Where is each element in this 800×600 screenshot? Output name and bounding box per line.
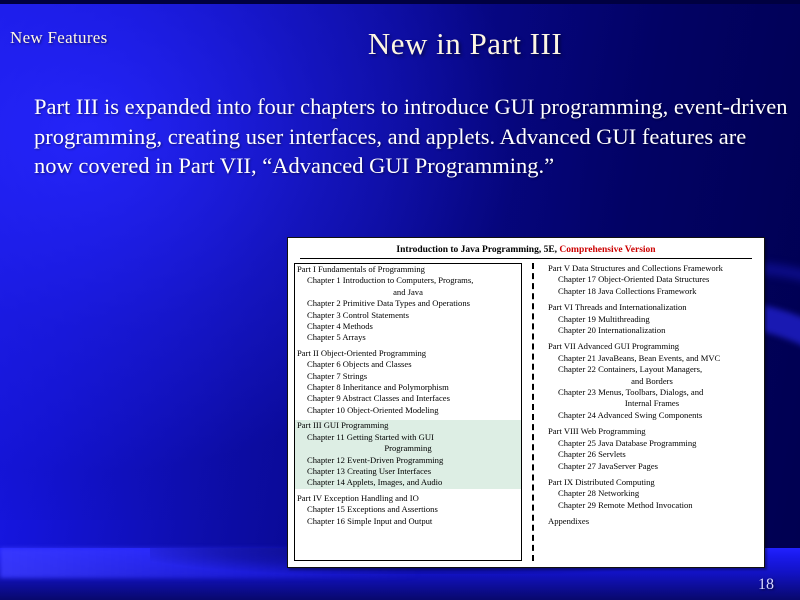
toc-part-title: Part VI Threads and Internationalization <box>546 302 758 313</box>
toc-chapter-entry: Chapter 2 Primitive Data Types and Opera… <box>295 298 521 309</box>
toc-part-group: Appendixes <box>546 516 758 527</box>
contents-columns: Part I Fundamentals of ProgrammingChapte… <box>294 263 758 561</box>
toc-part-title: Part V Data Structures and Collections F… <box>546 263 758 274</box>
toc-part-group: Part VIII Web ProgrammingChapter 25 Java… <box>546 426 758 472</box>
toc-part-title: Part III GUI Programming <box>295 420 521 431</box>
toc-chapter-entry: Internal Frames <box>546 398 758 409</box>
toc-part-title: Part IV Exception Handling and IO <box>295 493 521 504</box>
toc-part-title: Part IX Distributed Computing <box>546 477 758 488</box>
slide-page-number: 18 <box>758 576 774 594</box>
toc-part-group: Part III GUI ProgrammingChapter 11 Getti… <box>295 420 521 488</box>
toc-chapter-entry: Chapter 1 Introduction to Computers, Pro… <box>295 275 521 286</box>
toc-chapter-entry: Chapter 15 Exceptions and Assertions <box>295 504 521 515</box>
toc-chapter-entry: Chapter 17 Object-Oriented Data Structur… <box>546 274 758 285</box>
book-title: Introduction to Java Programming, 5E, Co… <box>300 243 752 259</box>
toc-chapter-entry: Chapter 26 Servlets <box>546 449 758 460</box>
toc-chapter-entry: Chapter 27 JavaServer Pages <box>546 461 758 472</box>
top-edge-strip <box>0 0 800 4</box>
toc-chapter-entry: Chapter 7 Strings <box>295 371 521 382</box>
toc-chapter-entry: Chapter 6 Objects and Classes <box>295 359 521 370</box>
toc-chapter-entry: Chapter 16 Simple Input and Output <box>295 516 521 527</box>
toc-part-title: Part VII Advanced GUI Programming <box>546 341 758 352</box>
toc-chapter-entry: Chapter 21 JavaBeans, Bean Events, and M… <box>546 353 758 364</box>
presentation-slide: New Features New in Part III Part III is… <box>0 0 800 600</box>
toc-part-title: Part I Fundamentals of Programming <box>295 264 521 275</box>
toc-part-group: Part IV Exception Handling and IOChapter… <box>295 493 521 527</box>
toc-part-title: Part VIII Web Programming <box>546 426 758 437</box>
dashed-divider-line <box>532 263 534 561</box>
slide-body-text: Part III is expanded into four chapters … <box>34 92 790 181</box>
toc-part-group: Part VI Threads and Internationalization… <box>546 302 758 336</box>
book-title-black: Introduction to Java Programming, 5E, <box>396 245 557 255</box>
toc-part-group: Part II Object-Oriented ProgrammingChapt… <box>295 348 521 416</box>
toc-part-group: Part I Fundamentals of ProgrammingChapte… <box>295 264 521 344</box>
toc-chapter-entry: Chapter 22 Containers, Layout Managers, <box>546 364 758 375</box>
toc-chapter-entry: Chapter 14 Applets, Images, and Audio <box>295 477 521 488</box>
book-title-red: Comprehensive Version <box>559 245 655 255</box>
toc-chapter-entry: and Java <box>295 287 521 298</box>
toc-chapter-entry: Chapter 28 Networking <box>546 488 758 499</box>
toc-part-title: Appendixes <box>546 516 758 527</box>
page-title-text: New in Part III <box>368 26 562 61</box>
column-divider <box>522 263 544 561</box>
toc-chapter-entry: Chapter 29 Remote Method Invocation <box>546 500 758 511</box>
toc-chapter-entry: Chapter 8 Inheritance and Polymorphism <box>295 382 521 393</box>
contents-right-column: Part V Data Structures and Collections F… <box>544 263 758 561</box>
toc-chapter-entry: Chapter 24 Advanced Swing Components <box>546 410 758 421</box>
toc-part-group: Part VII Advanced GUI ProgrammingChapter… <box>546 341 758 421</box>
toc-chapter-entry: Chapter 23 Menus, Toolbars, Dialogs, and <box>546 387 758 398</box>
toc-part-title: Part II Object-Oriented Programming <box>295 348 521 359</box>
toc-chapter-entry: Chapter 18 Java Collections Framework <box>546 286 758 297</box>
contents-left-column: Part I Fundamentals of ProgrammingChapte… <box>294 263 522 561</box>
toc-chapter-entry: Programming <box>295 443 521 454</box>
toc-chapter-entry: Chapter 11 Getting Started with GUI <box>295 432 521 443</box>
toc-chapter-entry: Chapter 20 Internationalization <box>546 325 758 336</box>
page-title: New in Part III <box>0 26 800 62</box>
toc-chapter-entry: Chapter 5 Arrays <box>295 332 521 343</box>
toc-chapter-entry: Chapter 25 Java Database Programming <box>546 438 758 449</box>
toc-chapter-entry: Chapter 19 Multithreading <box>546 314 758 325</box>
toc-chapter-entry: Chapter 3 Control Statements <box>295 310 521 321</box>
toc-chapter-entry: Chapter 13 Creating User Interfaces <box>295 466 521 477</box>
toc-chapter-entry: Chapter 10 Object-Oriented Modeling <box>295 405 521 416</box>
toc-part-group: Part IX Distributed ComputingChapter 28 … <box>546 477 758 511</box>
book-contents-panel: Introduction to Java Programming, 5E, Co… <box>287 237 765 568</box>
toc-chapter-entry: Chapter 12 Event-Driven Programming <box>295 455 521 466</box>
toc-part-group: Part V Data Structures and Collections F… <box>546 263 758 297</box>
toc-chapter-entry: Chapter 4 Methods <box>295 321 521 332</box>
toc-chapter-entry: and Borders <box>546 376 758 387</box>
toc-chapter-entry: Chapter 9 Abstract Classes and Interface… <box>295 393 521 404</box>
